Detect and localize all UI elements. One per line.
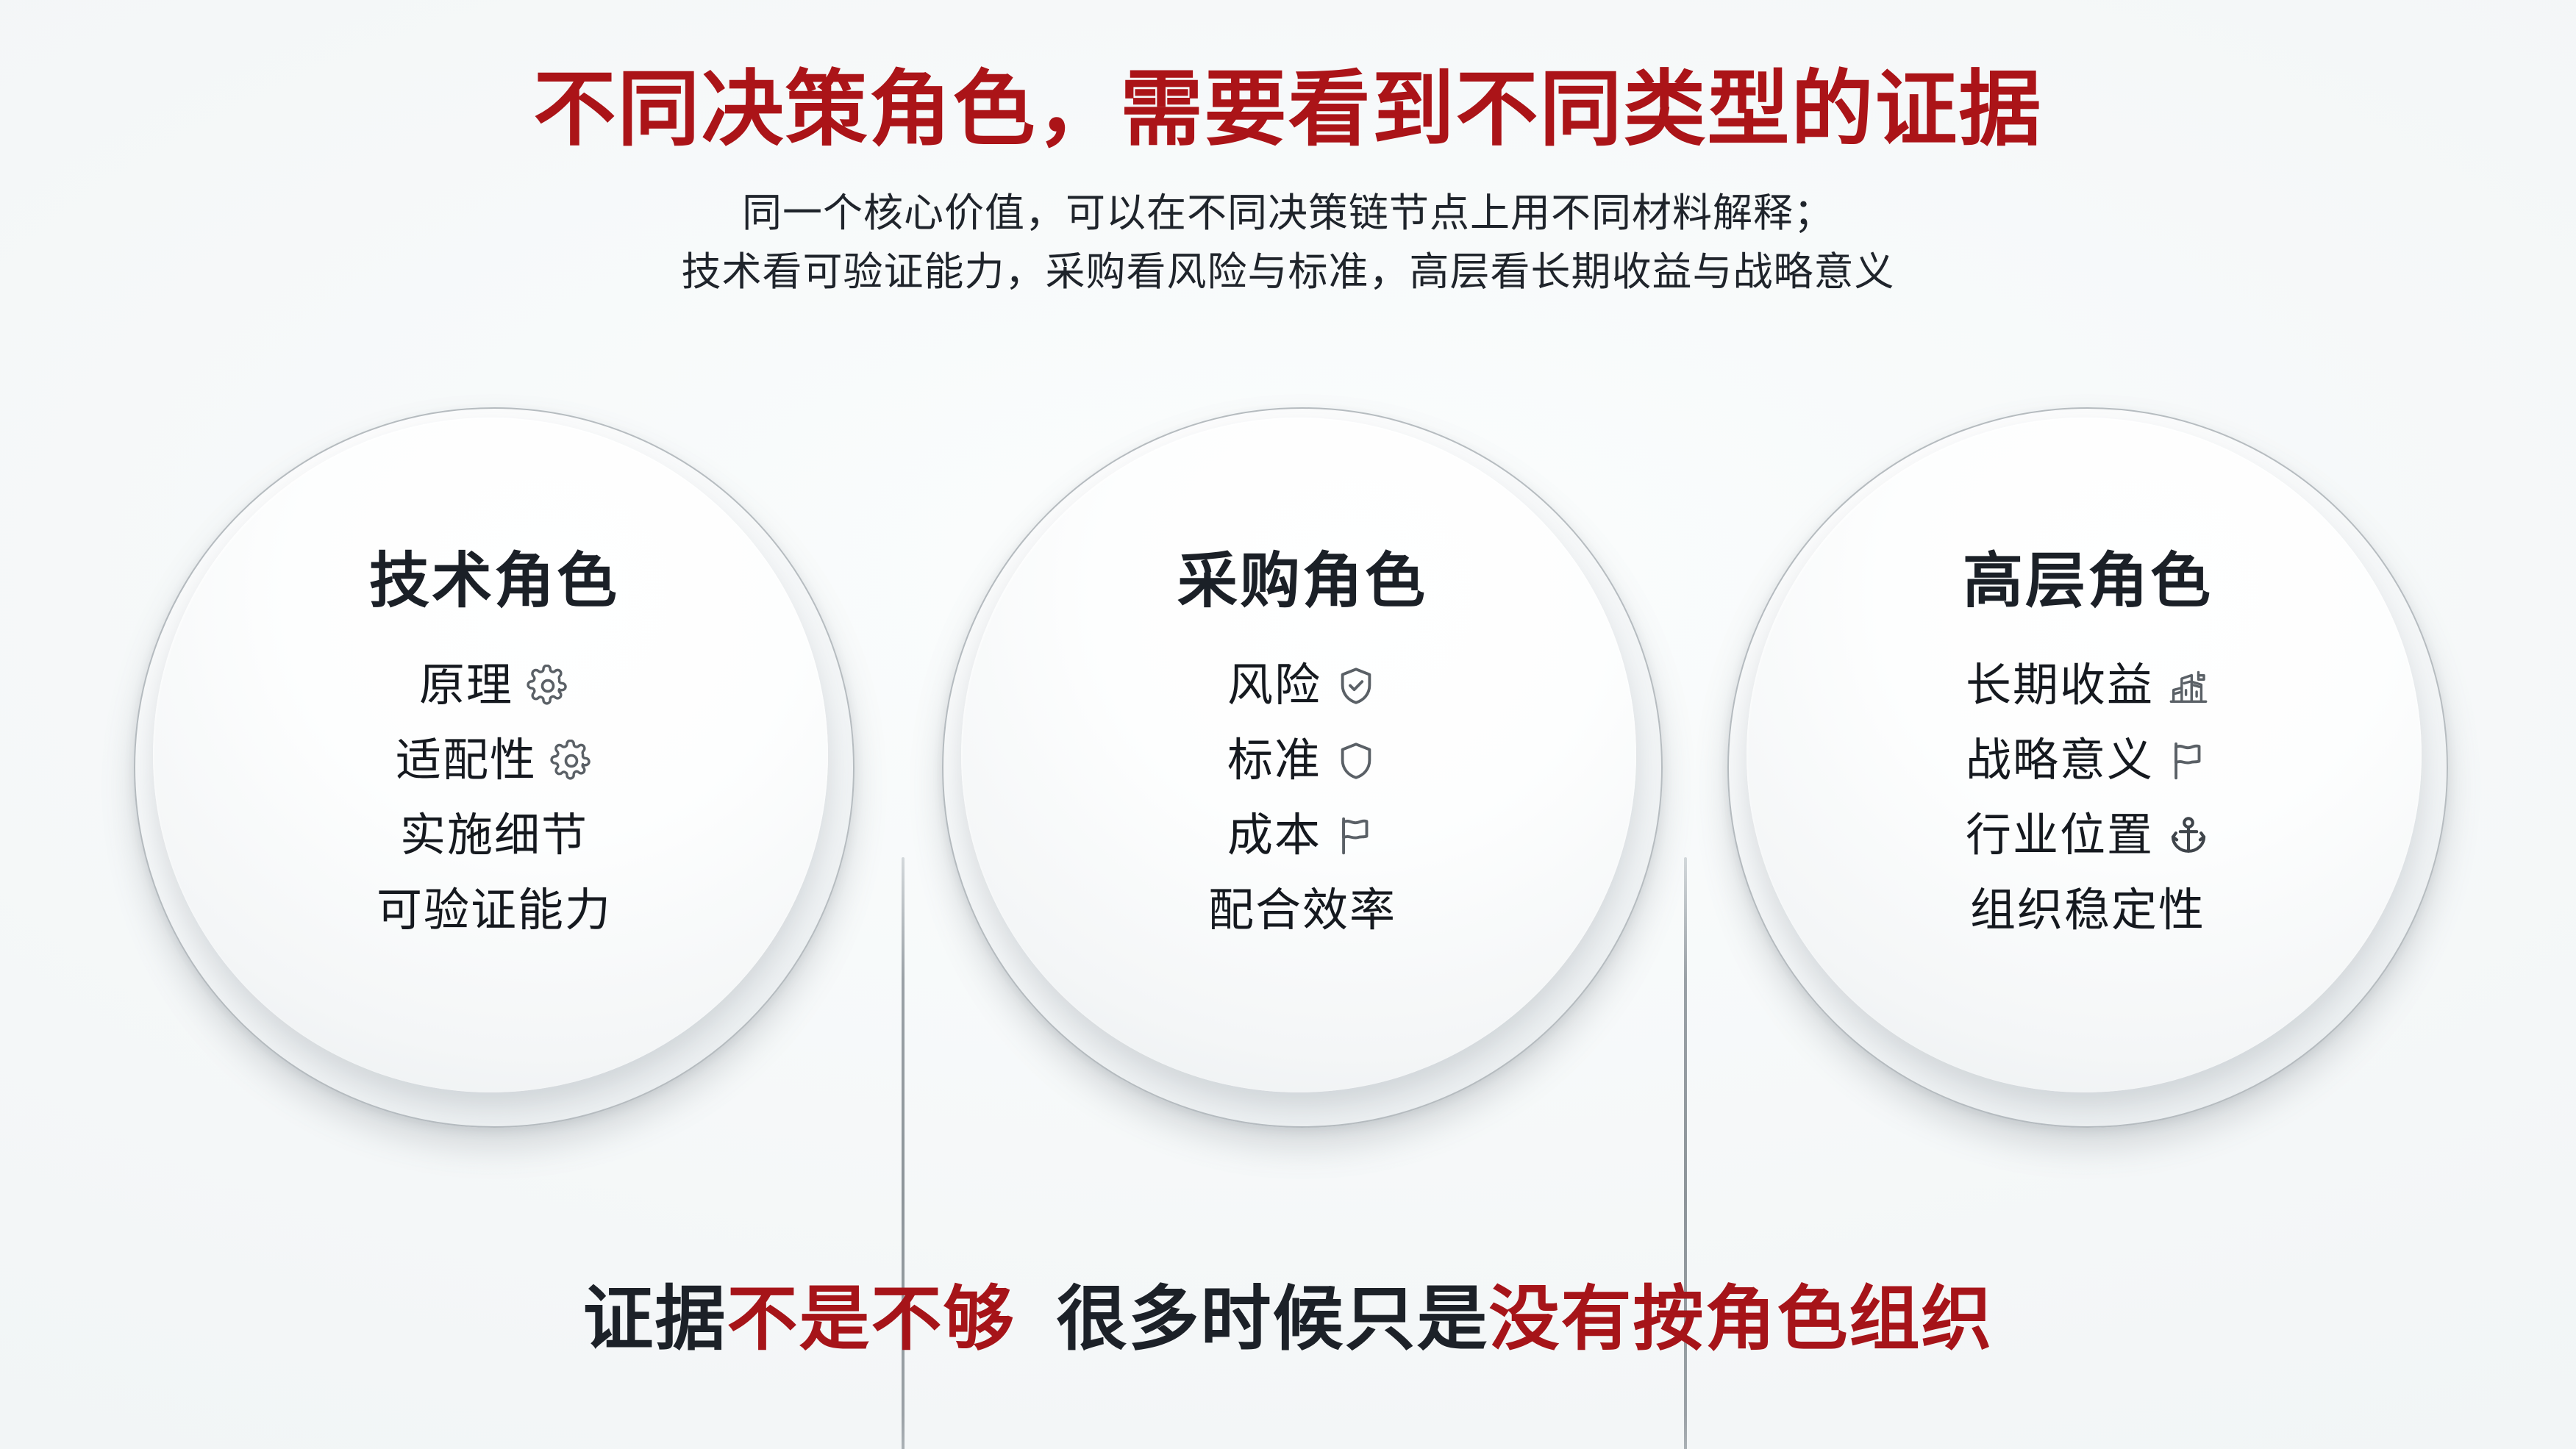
list-item[interactable]: 风险 (1227, 657, 1377, 715)
factory-chart-icon (2167, 665, 2210, 707)
list-item[interactable]: 行业位置 (1966, 807, 2210, 865)
list-item[interactable]: 标准 (1227, 732, 1377, 790)
circle-content: 技术角色 原理 适配性 (134, 407, 854, 1128)
gear-icon (527, 665, 569, 707)
circle-content: 采购角色 风险 标准 (942, 407, 1663, 1128)
list-item[interactable]: 成本 (1227, 807, 1377, 865)
list-item-label: 适配性 (396, 738, 537, 784)
shield-check-icon (1335, 665, 1377, 707)
circle-title: 高层角色 (1963, 551, 2213, 612)
list-item-label: 标准 (1227, 738, 1321, 784)
circle-title: 技术角色 (369, 551, 619, 612)
column-divider-2 (1684, 857, 1687, 1449)
subtitle-line-1: 同一个核心价值，可以在不同决策链节点上用不同材料解释； (0, 185, 2576, 243)
gear-icon (550, 740, 593, 782)
footer-part-3: 很多时候只是 (1057, 1280, 1489, 1359)
role-circle-technical[interactable]: 技术角色 原理 适配性 (134, 407, 854, 1128)
footer-part-2: 不是不够 (727, 1280, 1016, 1359)
role-circles-row: 技术角色 原理 适配性 (0, 394, 2576, 1144)
role-circle-executive[interactable]: 高层角色 长期收益 (1727, 407, 2448, 1128)
shield-icon (1335, 740, 1377, 782)
flag-icon (1335, 815, 1377, 857)
subtitle-block: 同一个核心价值，可以在不同决策链节点上用不同材料解释； 技术看可验证能力，采购看… (0, 185, 2576, 302)
list-item[interactable]: 原理 (419, 657, 569, 715)
circle-title: 采购角色 (1177, 551, 1427, 612)
footer-part-1: 证据 (583, 1280, 727, 1359)
list-item[interactable]: 适配性 (396, 732, 593, 790)
list-item-label: 长期收益 (1966, 663, 2154, 709)
list-item-label: 组织稳定性 (1970, 888, 2205, 934)
flag-icon (2167, 740, 2210, 782)
list-item-label: 战略意义 (1966, 738, 2154, 784)
circle-item-list: 长期收益 (1966, 657, 2210, 940)
slide-canvas: 不同决策角色，需要看到不同类型的证据 同一个核心价值，可以在不同决策链节点上用不… (0, 0, 2576, 1449)
subtitle-line-2: 技术看可验证能力，采购看风险与标准，高层看长期收益与战略意义 (0, 243, 2576, 302)
role-circle-procurement[interactable]: 采购角色 风险 标准 (942, 407, 1663, 1128)
column-divider-1 (902, 857, 905, 1449)
list-item[interactable]: 可验证能力 (377, 882, 612, 940)
circle-item-list: 原理 适配性 (377, 657, 612, 940)
list-item-label: 配合效率 (1208, 888, 1396, 934)
list-item[interactable]: 组织稳定性 (1970, 882, 2205, 940)
circle-content: 高层角色 长期收益 (1727, 407, 2448, 1128)
list-item[interactable]: 配合效率 (1208, 882, 1396, 940)
footer-statement: 证据不是不够很多时候只是没有按角色组织 (0, 1281, 2576, 1359)
page-title: 不同决策角色，需要看到不同类型的证据 (0, 63, 2576, 155)
list-item-label: 实施细节 (400, 813, 588, 859)
list-item-label: 行业位置 (1966, 813, 2154, 859)
circle-item-list: 风险 标准 (1208, 657, 1396, 940)
list-item[interactable]: 实施细节 (400, 807, 588, 865)
list-item-label: 原理 (419, 663, 513, 709)
list-item-label: 风险 (1227, 663, 1321, 709)
list-item[interactable]: 战略意义 (1966, 732, 2210, 790)
anchor-icon (2167, 815, 2210, 857)
slide-header: 不同决策角色，需要看到不同类型的证据 同一个核心价值，可以在不同决策链节点上用不… (0, 63, 2576, 302)
list-item-label: 成本 (1227, 813, 1321, 859)
footer-part-4: 没有按角色组织 (1489, 1280, 1994, 1359)
list-item-label: 可验证能力 (377, 888, 612, 934)
list-item[interactable]: 长期收益 (1966, 657, 2210, 715)
